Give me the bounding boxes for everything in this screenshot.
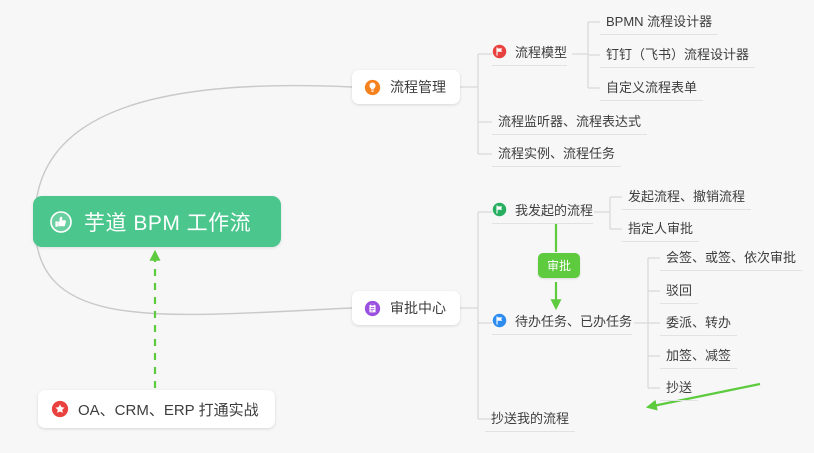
leaf-node-cc[interactable]: 抄送 — [660, 377, 698, 401]
clipboard-icon — [364, 300, 381, 317]
leaf-node-countersign[interactable]: 会签、或签、依次审批 — [660, 247, 802, 271]
branch-node-process-management[interactable]: 流程管理 — [352, 70, 460, 104]
leaf-node-process-instance[interactable]: 流程实例、流程任务 — [492, 143, 621, 167]
branch-node-approval-center[interactable]: 审批中心 — [352, 291, 460, 325]
sub-label-process-model: 流程模型 — [515, 42, 567, 61]
leaf-node-bpmn-designer[interactable]: BPMN 流程设计器 — [600, 11, 718, 35]
leaf-node-dingtalk-designer[interactable]: 钉钉（飞书）流程设计器 — [600, 44, 755, 68]
root-node[interactable]: 芋道 BPM 工作流 — [33, 196, 281, 247]
sub-label-my-initiated: 我发起的流程 — [515, 200, 593, 219]
branch-label-approval-center: 审批中心 — [390, 298, 446, 318]
lightbulb-icon — [364, 79, 381, 96]
leaf-node-reject[interactable]: 驳回 — [660, 280, 698, 304]
branch-node-integration[interactable]: OA、CRM、ERP 打通实战 — [38, 390, 275, 428]
leaf-node-process-listener[interactable]: 流程监听器、流程表达式 — [492, 111, 647, 135]
thumbs-up-icon — [49, 210, 73, 234]
branch-label-integration: OA、CRM、ERP 打通实战 — [78, 399, 259, 420]
leaf-node-add-remove-sign[interactable]: 加签、减签 — [660, 345, 737, 369]
sub-label-todo-done-tasks: 待办任务、已办任务 — [515, 311, 632, 330]
flag-icon — [492, 44, 507, 59]
leaf-node-start-cancel-process[interactable]: 发起流程、撤销流程 — [622, 186, 751, 210]
sub-node-my-initiated[interactable]: 我发起的流程 — [492, 200, 593, 224]
leaf-node-delegate-transfer[interactable]: 委派、转办 — [660, 312, 737, 336]
leaf-node-assignee-approval[interactable]: 指定人审批 — [622, 218, 699, 242]
leaf-node-custom-form[interactable]: 自定义流程表单 — [600, 77, 703, 101]
mindmap-canvas: 芋道 BPM 工作流 流程管理 流程模型 流程监听器、流程表达式 流程实例、流程… — [0, 0, 814, 453]
leaf-node-cc-to-me[interactable]: 抄送我的流程 — [485, 408, 575, 432]
annotation-badge-approval[interactable]: 审批 — [538, 253, 580, 278]
flag-icon — [492, 313, 507, 328]
flag-icon — [492, 202, 507, 217]
star-icon — [51, 400, 69, 418]
branch-label-process-management: 流程管理 — [390, 77, 446, 97]
sub-node-todo-done-tasks[interactable]: 待办任务、已办任务 — [492, 311, 632, 335]
sub-node-process-model[interactable]: 流程模型 — [492, 42, 567, 66]
root-label: 芋道 BPM 工作流 — [84, 207, 251, 237]
